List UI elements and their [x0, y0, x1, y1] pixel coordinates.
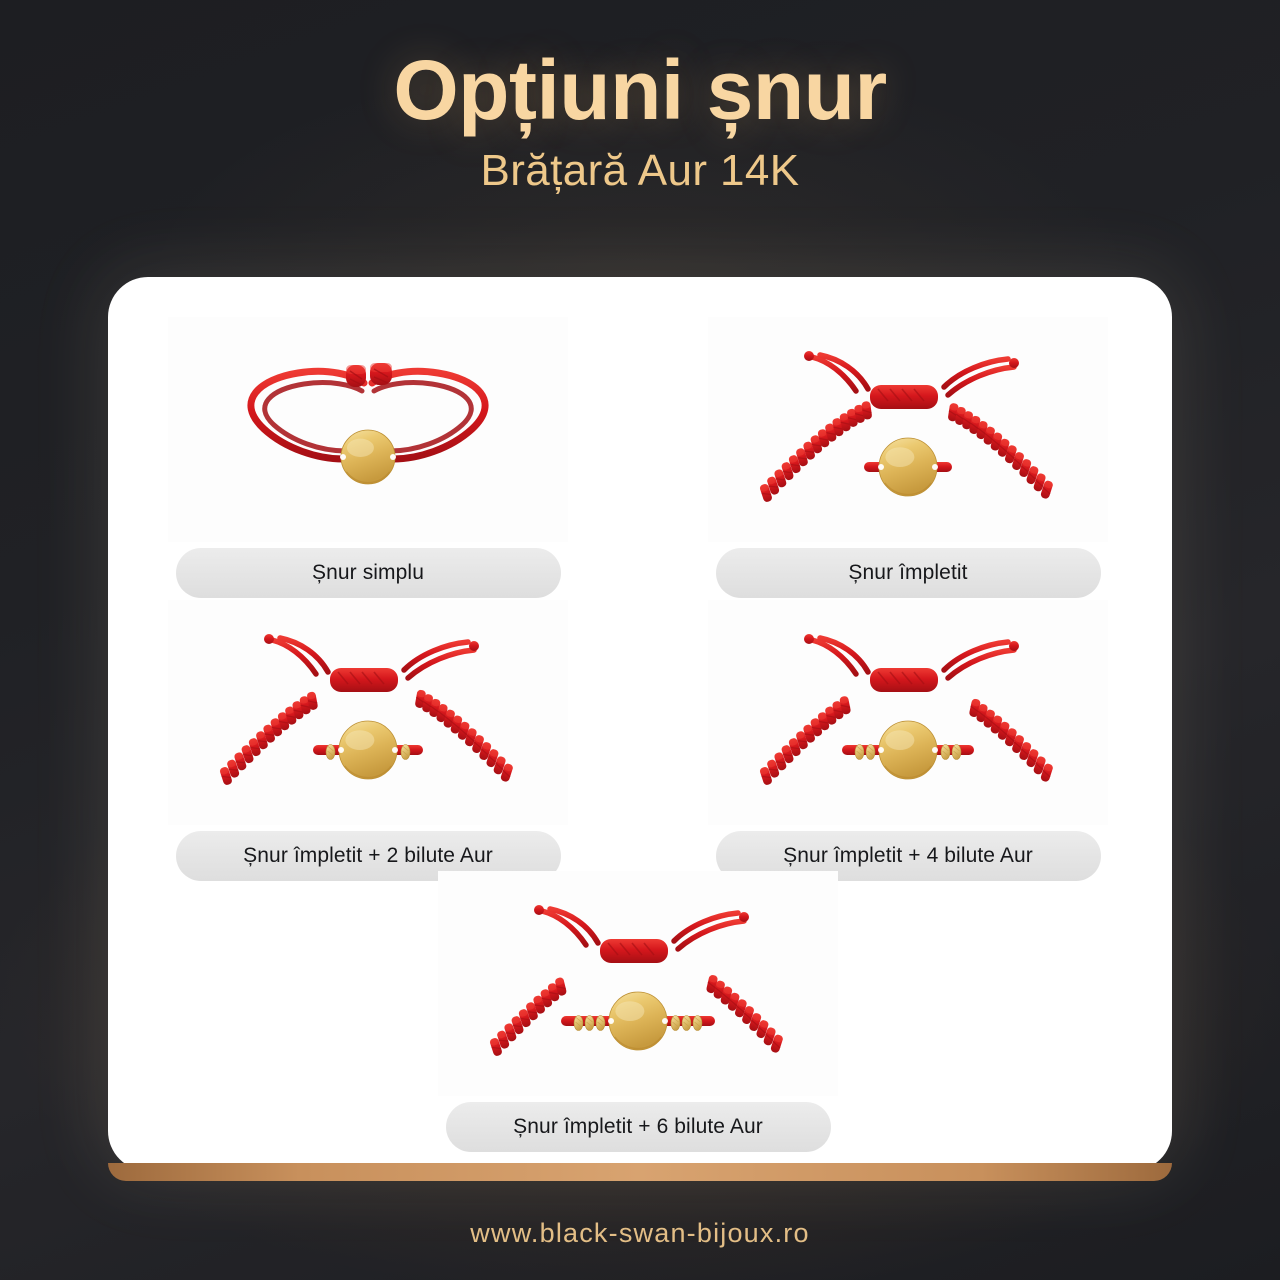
card-bottom-accent-stripe [108, 1163, 1172, 1181]
poster-root: Opțiuni șnur Brățară Aur 14K [0, 0, 1280, 1280]
bracelet-photo-snur-impletit [708, 317, 1108, 542]
options-grid: Șnur simplu [108, 277, 1172, 1171]
option-card-2[interactable]: Șnur împletit + 2 bilute Aur [168, 600, 568, 881]
option-card-4[interactable]: Șnur împletit + 6 bilute Aur [438, 871, 838, 1152]
footer-website: www.black-swan-bijoux.ro [0, 1218, 1280, 1249]
option-card-0[interactable]: Șnur simplu [168, 317, 568, 598]
option-card-3[interactable]: Șnur împletit + 4 bilute Aur [708, 600, 1108, 881]
bracelet-photo-snur-simplu [168, 317, 568, 542]
option-label-4: Șnur împletit + 6 bilute Aur [446, 1102, 831, 1152]
option-label-0: Șnur simplu [176, 548, 561, 598]
page-title: Opțiuni șnur [0, 46, 1280, 134]
page-subtitle: Brățară Aur 14K [0, 146, 1280, 196]
bracelet-photo-snur-impletit-2-bilute [168, 600, 568, 825]
bracelet-photo-snur-impletit-4-bilute [708, 600, 1108, 825]
options-card: Șnur simplu [108, 277, 1172, 1171]
option-label-1: Șnur împletit [716, 548, 1101, 598]
bracelet-photo-snur-impletit-6-bilute [438, 871, 838, 1096]
option-card-1[interactable]: Șnur împletit [708, 317, 1108, 598]
header: Opțiuni șnur Brățară Aur 14K [0, 46, 1280, 196]
